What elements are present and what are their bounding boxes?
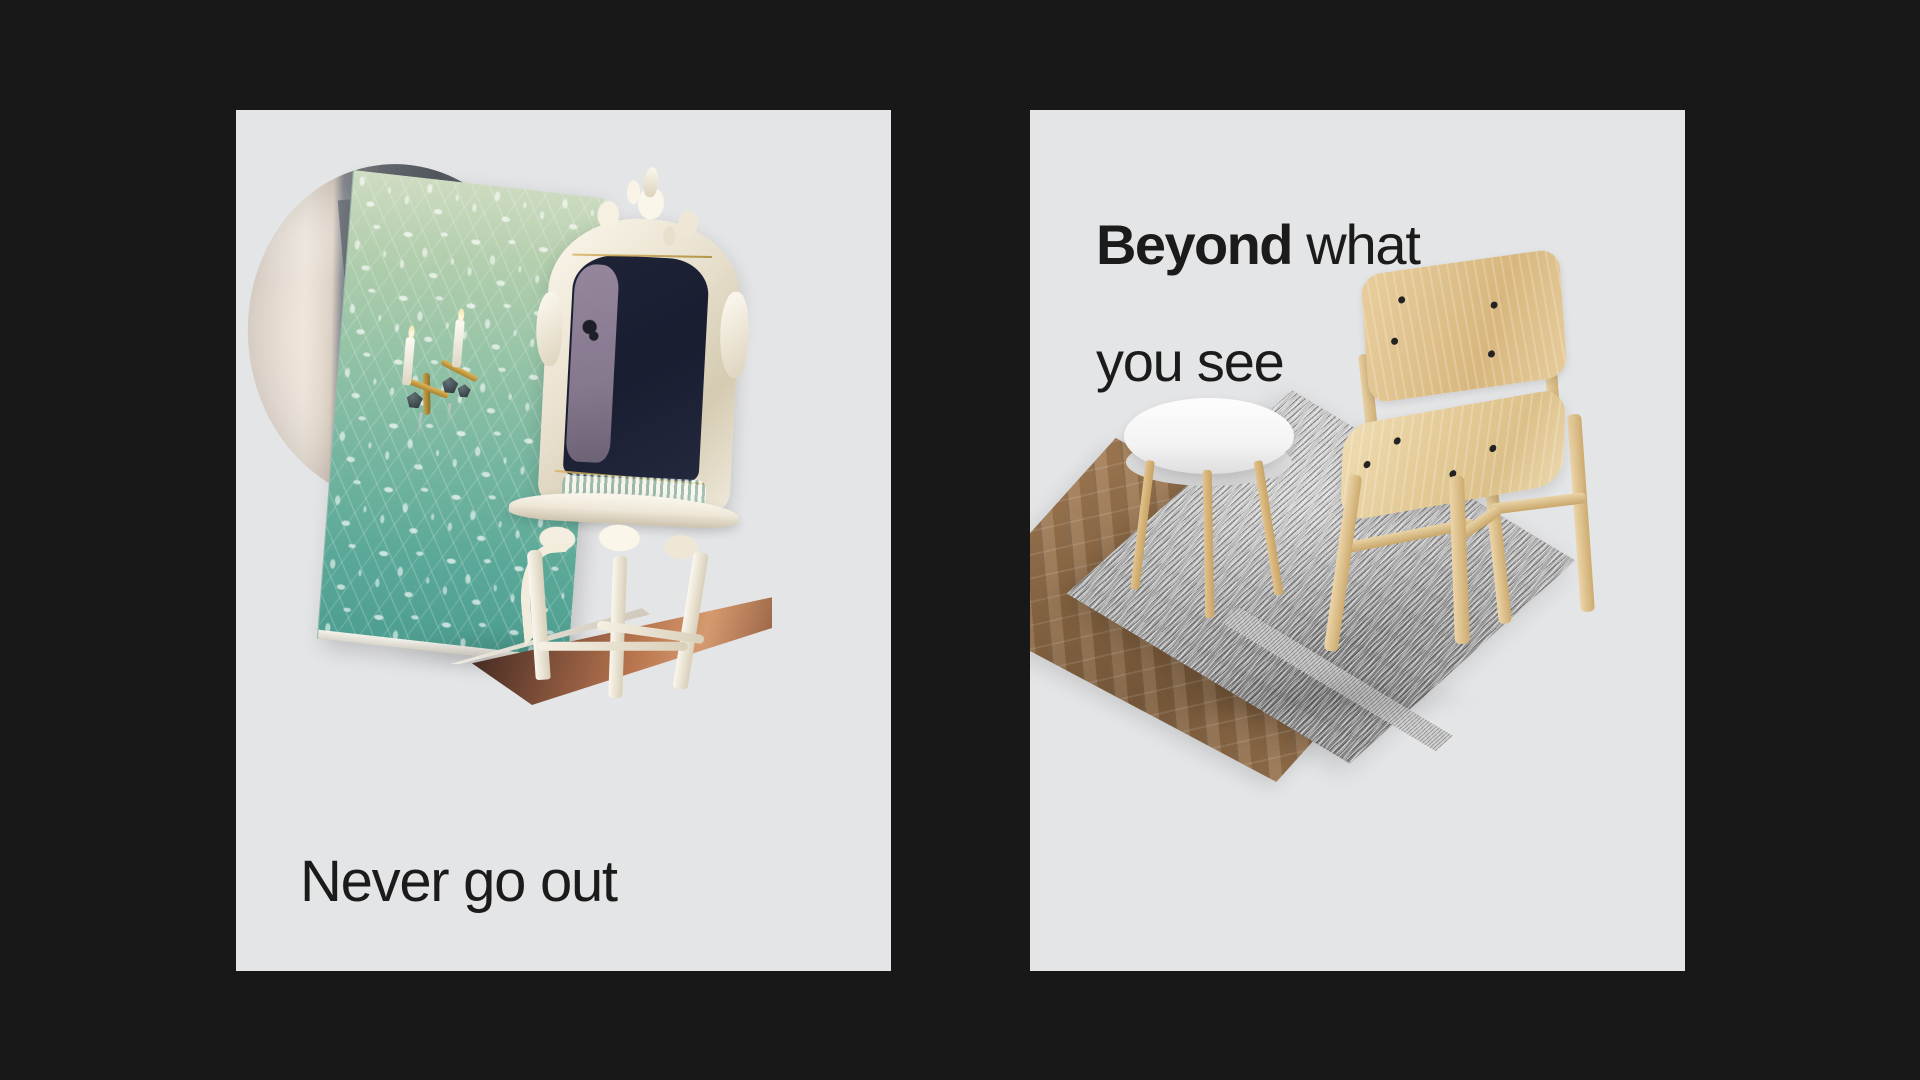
poster-card-classic[interactable]: Never go out of style xyxy=(236,110,891,971)
headline-line-2: you see xyxy=(1096,333,1420,391)
headline-prefix-of: of xyxy=(300,970,361,971)
baroque-mirror-and-console xyxy=(524,172,798,654)
console-leg-right xyxy=(672,552,708,691)
headline-emphasis-style: style xyxy=(361,970,485,971)
sconce-stem xyxy=(423,373,431,415)
headline-line-1: Beyond what xyxy=(1096,216,1420,274)
poster-stage: Never go out of style xyxy=(0,0,1920,1080)
chair-rail-right xyxy=(1490,492,1587,515)
poster-headline-scandi: Beyond what you see xyxy=(1096,158,1420,449)
chair-leg-back-right xyxy=(1567,414,1595,612)
mirror-reflection xyxy=(565,263,619,463)
headline-emphasis-beyond: Beyond xyxy=(1096,213,1292,276)
poster-headline-classic: Never go out of style xyxy=(300,792,617,971)
poster-card-scandi[interactable]: Beyond what you see Design Mart xyxy=(1030,110,1685,971)
console-stretcher-front xyxy=(538,642,688,651)
mirror-glass xyxy=(563,253,710,482)
rug-shadow xyxy=(1150,670,1480,726)
headline-line-1-rest: what xyxy=(1292,213,1420,276)
headline-line-1: Never go out xyxy=(300,852,617,912)
